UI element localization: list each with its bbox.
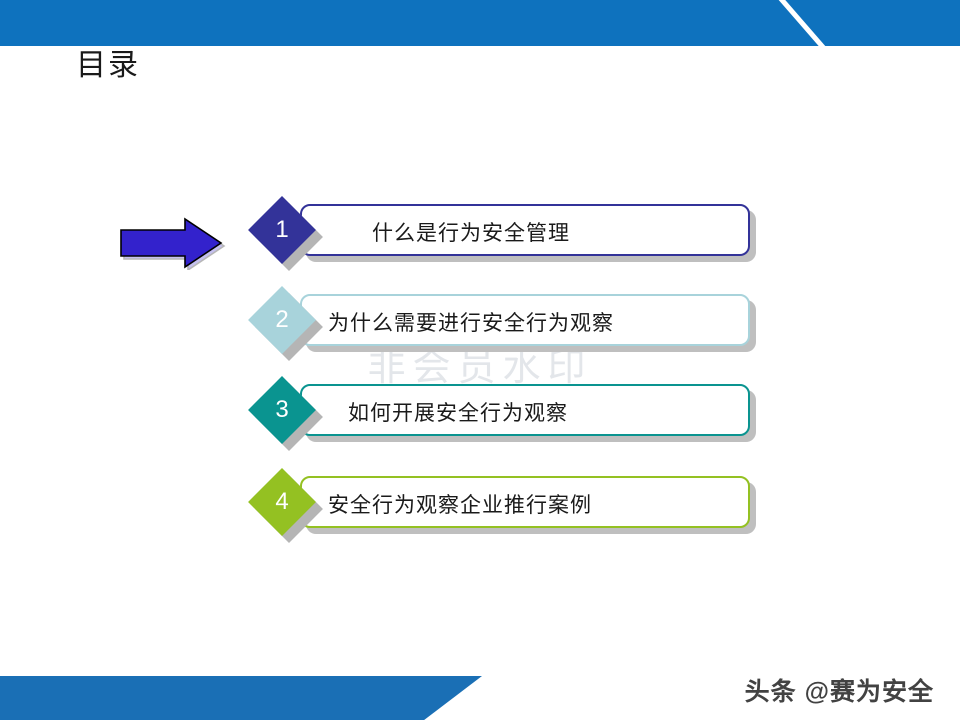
toc-list: 什么是行为安全管理 1 为什么需要进行安全行为观察 2 如何开展安全行为观察 3 [0, 0, 960, 720]
toc-number: 2 [258, 296, 306, 344]
toc-label: 如何开展安全行为观察 [302, 386, 798, 438]
right-arrow-icon [116, 216, 226, 270]
footer-blue-shape [0, 676, 482, 720]
toc-label: 为什么需要进行安全行为观察 [302, 296, 778, 348]
toc-label: 什么是行为安全管理 [302, 206, 822, 258]
list-item[interactable]: 为什么需要进行安全行为观察 2 [240, 290, 760, 380]
list-item[interactable]: 如何开展安全行为观察 3 [240, 380, 760, 470]
toc-number: 4 [258, 478, 306, 526]
list-item[interactable]: 什么是行为安全管理 1 [240, 200, 760, 290]
list-item[interactable]: 安全行为观察企业推行案例 4 [240, 472, 760, 562]
toc-bar[interactable]: 什么是行为安全管理 [300, 204, 750, 256]
toc-number: 1 [258, 206, 306, 254]
footer-watermark: 头条 @赛为安全 [745, 672, 934, 708]
toc-bar[interactable]: 如何开展安全行为观察 [300, 384, 750, 436]
toc-bar[interactable]: 安全行为观察企业推行案例 [300, 476, 750, 528]
toc-label: 安全行为观察企业推行案例 [302, 478, 778, 530]
toc-bar[interactable]: 为什么需要进行安全行为观察 [300, 294, 750, 346]
slide-canvas: 目录 非会员水印 什么是行为安全管理 1 为什么需要进行安全行为观察 2 [0, 0, 960, 720]
toc-number: 3 [258, 386, 306, 434]
